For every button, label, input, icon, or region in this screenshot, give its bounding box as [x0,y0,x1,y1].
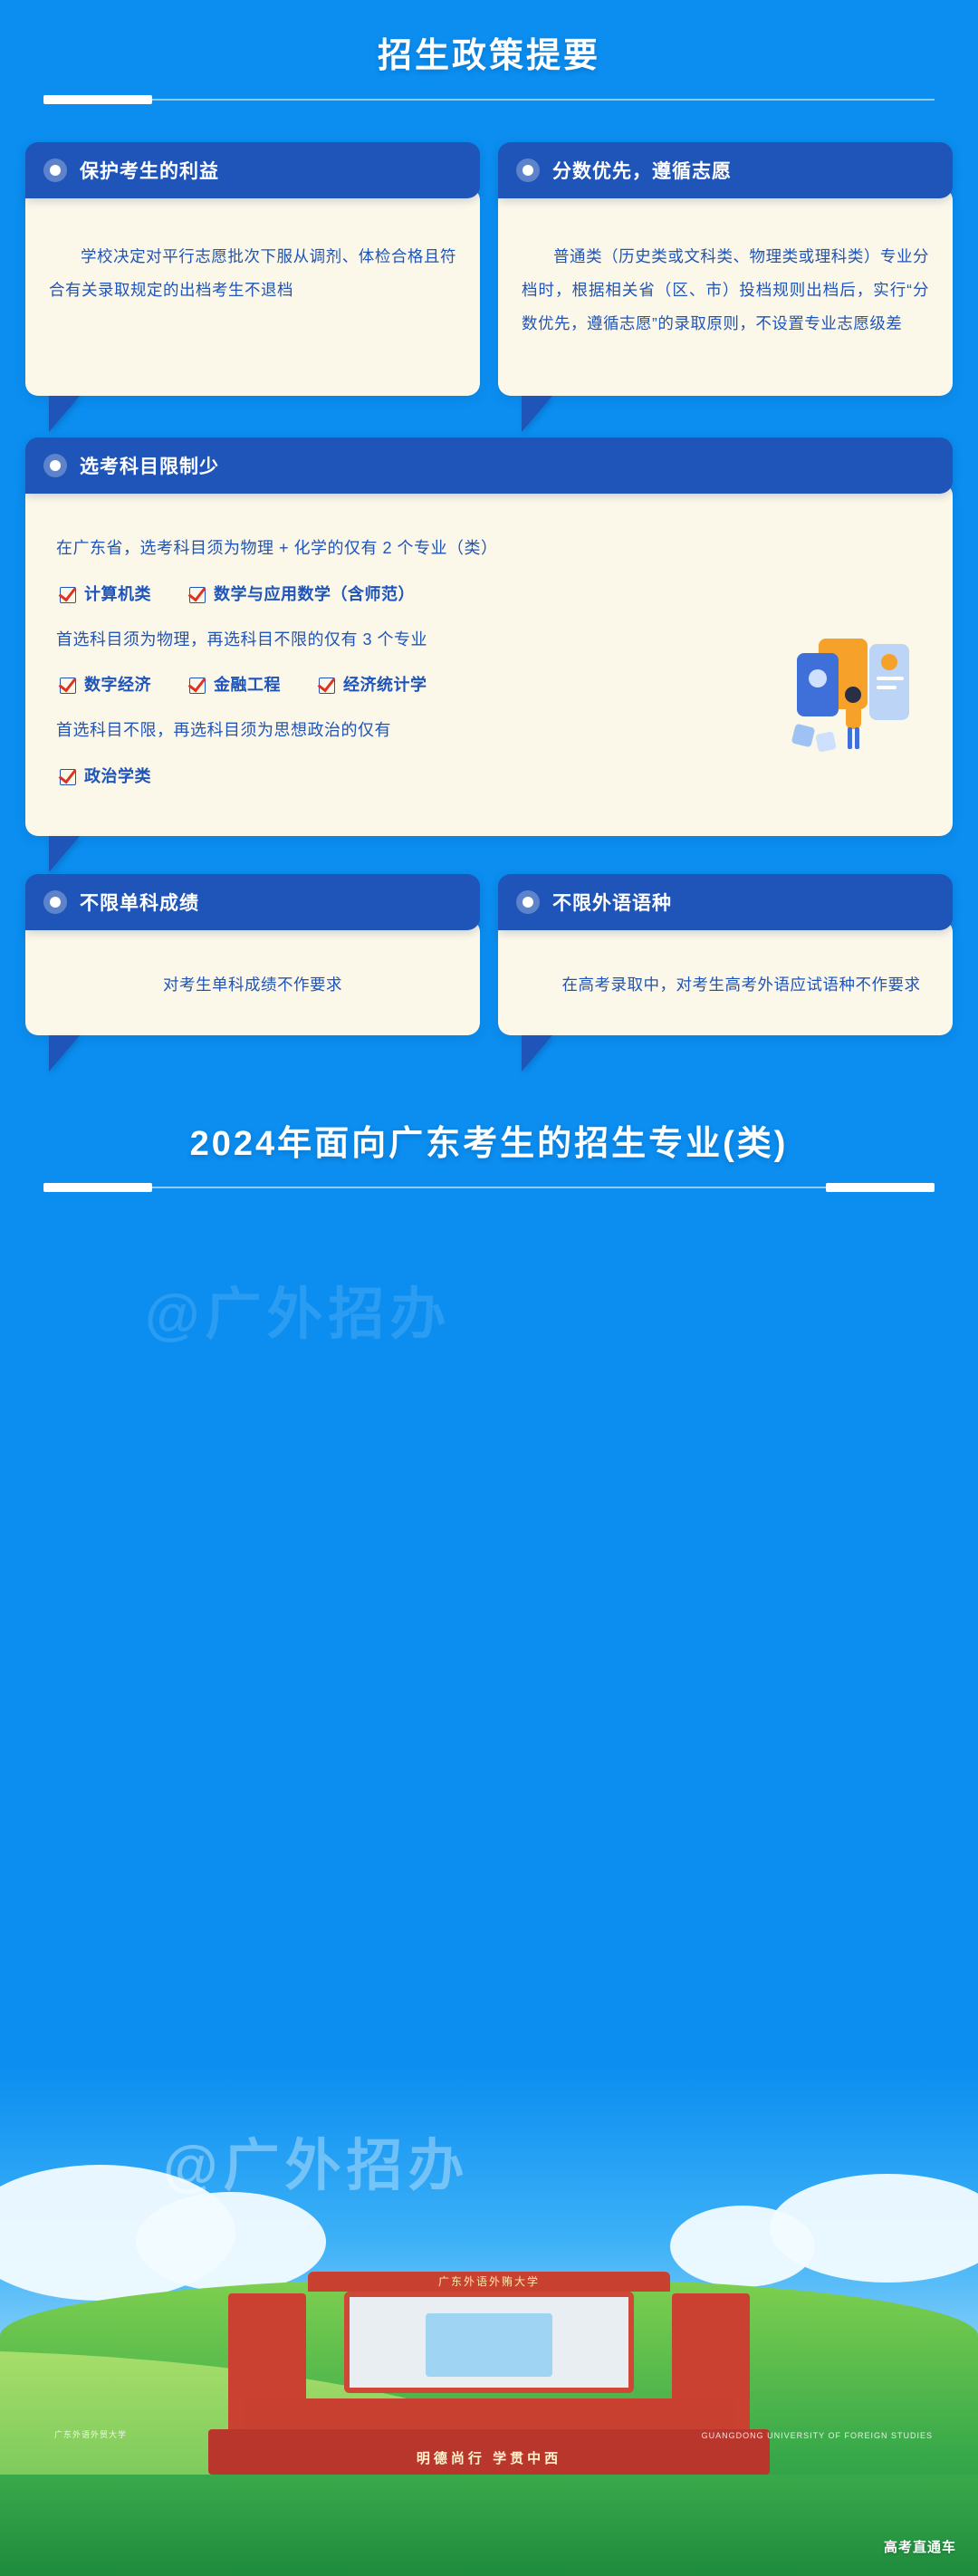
card-heading: 选考科目限制少 [80,452,219,479]
card-heading: 保护考生的利益 [80,157,219,184]
card-header: 不限单科成绩 [25,874,480,930]
subject-line-1: 在广东省，选考科目须为物理 + 化学的仅有 2 个专业（类） [56,535,922,562]
checkbox-checked-icon [60,587,76,603]
bullet-dot-icon [516,159,540,182]
subject-chip-group-1: 计算机类 数学与应用数学（含师范） [60,578,922,612]
subject-chip: 数学与应用数学（含师范） [189,578,415,612]
checkbox-checked-icon [189,587,206,603]
policy-card-protect-interest: 保护考生的利益 学校决定对平行志愿批次下服从调剂、体检合格且符合有关录取规定的出… [25,142,480,396]
card-heading: 分数优先，遵循志愿 [552,157,732,184]
card-header: 保护考生的利益 [25,142,480,198]
policy-cards-wide: 选考科目限制少 在广东省，选考科目须为物理 + 化学的仅有 2 个专业（类） 计… [0,437,978,836]
subject-chip: 金融工程 [189,668,281,703]
gate-motto: 明德尚行 学贯中西 [208,2448,770,2467]
subject-line-3: 首选科目不限，再选科目须为思想政治的仅有 [56,717,922,744]
subject-chip-label: 数字经济 [84,668,151,703]
gate-left-sign: 广东外语外贸大学 [54,2428,127,2440]
checkbox-checked-icon [60,678,76,694]
card-heading: 不限单科成绩 [80,889,199,916]
page-title: 招生政策提要 [0,11,978,77]
card-header: 分数优先，遵循志愿 [498,142,953,198]
section2-header: 2024年面向广东考生的招生专业(类) [0,1088,978,1192]
gate-university-name: 广东外语外贿大学 [350,2273,628,2289]
title-underline [43,1183,935,1192]
subject-chip-label: 金融工程 [214,668,281,703]
campus-gate-illustration: 广东外语外贿大学 明德尚行 学贯中西 [208,2257,770,2475]
policy-card-subject-restrictions: 选考科目限制少 在广东省，选考科目须为物理 + 化学的仅有 2 个专业（类） 计… [25,437,953,836]
subject-chip: 经济统计学 [319,668,427,703]
checkbox-checked-icon [319,678,335,694]
subject-chip-label: 政治学类 [84,760,151,794]
grass-strip [0,2475,978,2576]
card-beak [522,396,552,432]
card-beak [49,396,80,432]
footer-badge: 高考直通车 [884,2537,956,2556]
card-body: 在高考录取中，对考生高考外语应试语种不作要求 [498,919,953,1035]
bullet-dot-icon [43,159,67,182]
card-body: 普通类（历史类或文科类、物理类或理科类）专业分档时，根据相关省（区、市）投档规则… [498,187,953,396]
policy-card-no-single-subject-limit: 不限单科成绩 对考生单科成绩不作要求 [25,874,480,1035]
subject-chip: 数字经济 [60,668,151,703]
subject-chip-label: 计算机类 [84,578,151,612]
gate-right-sign: GUANGDONG UNIVERSITY OF FOREIGN STUDIES [702,2431,933,2440]
checkbox-checked-icon [60,769,76,785]
subject-chip: 计算机类 [60,578,151,612]
card-heading: 不限外语语种 [552,889,672,916]
card-beak [49,1035,80,1072]
policy-card-score-priority: 分数优先，遵循志愿 普通类（历史类或文科类、物理类或理科类）专业分档时，根据相关… [498,142,953,396]
policy-card-no-language-limit: 不限外语语种 在高考录取中，对考生高考外语应试语种不作要求 [498,874,953,1035]
subject-line-2: 首选科目须为物理，再选科目不限的仅有 3 个专业 [56,627,922,653]
bullet-dot-icon [516,890,540,914]
bullet-dot-icon [43,890,67,914]
subject-chip-label: 数学与应用数学（含师范） [214,578,415,612]
bullet-dot-icon [43,454,67,477]
subject-chip-group-2: 数字经济 金融工程 经济统计学 [60,668,922,703]
subject-chip-label: 经济统计学 [343,668,427,703]
section2-title: 2024年面向广东考生的招生专业(类) [0,1099,978,1165]
subject-chip-group-3: 政治学类 [60,760,922,794]
title-underline [43,95,935,104]
card-body: 在广东省，选考科目须为物理 + 化学的仅有 2 个专业（类） 计算机类 数学与应… [25,483,953,836]
card-beak [49,836,80,872]
card-body: 对考生单科成绩不作要求 [25,919,480,1035]
card-beak [522,1035,552,1072]
card-body: 学校决定对平行志愿批次下服从调剂、体检合格且符合有关录取规定的出档考生不退档 [25,187,480,396]
checkbox-checked-icon [189,678,206,694]
card-header: 选考科目限制少 [25,437,953,494]
section1-header: 招生政策提要 [0,0,978,104]
card-header: 不限外语语种 [498,874,953,930]
subject-chip: 政治学类 [60,760,151,794]
